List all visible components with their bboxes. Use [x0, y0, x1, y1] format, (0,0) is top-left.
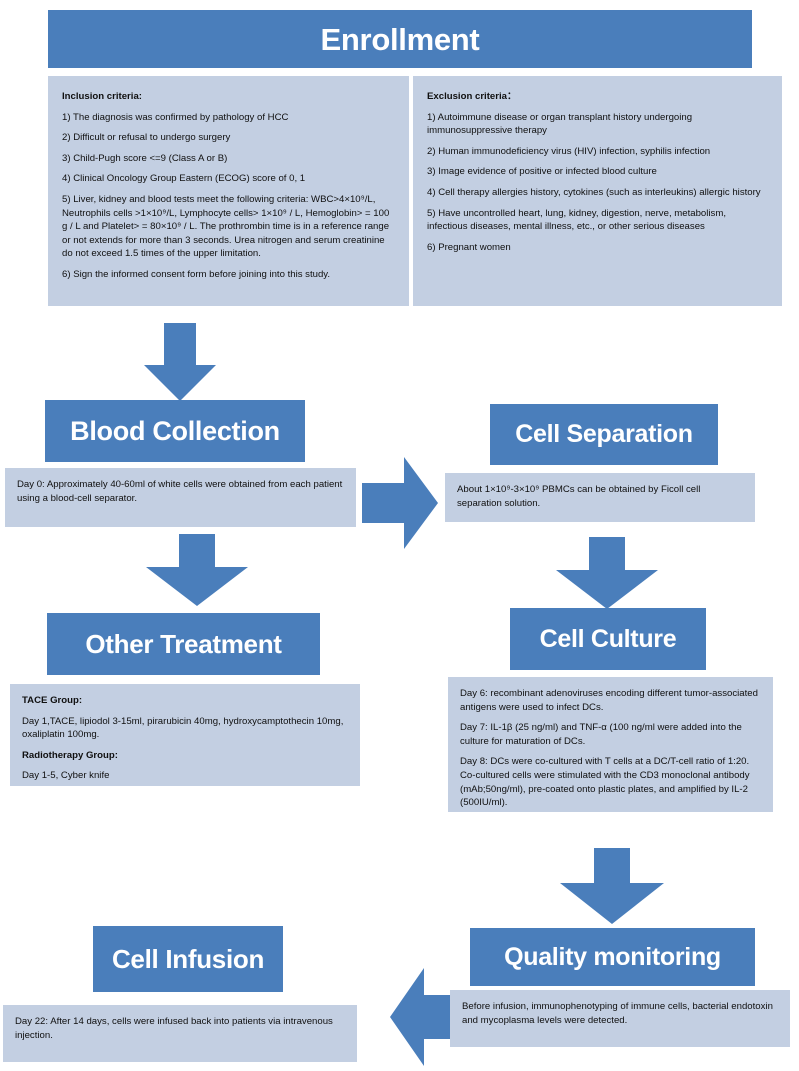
cell-culture-title: Cell Culture	[540, 627, 677, 652]
cell-separation-header-box: Cell Separation	[490, 404, 718, 465]
cell-infusion-panel: Day 22: After 14 days, cells were infuse…	[3, 1005, 357, 1062]
blood-collection-title: Blood Collection	[70, 418, 280, 445]
inclusion-item-3: 3) Child-Pugh score <=9 (Class A or B)	[62, 152, 395, 166]
enrollment-title: Enrollment	[321, 24, 480, 55]
inclusion-item-2: 2) Difficult or refusal to undergo surge…	[62, 131, 395, 145]
cell-infusion-body: Day 22: After 14 days, cells were infuse…	[15, 1015, 345, 1042]
tace-group-body: Day 1,TACE, lipiodol 3-15ml, pirarubicin…	[22, 715, 348, 742]
inclusion-criteria-column: Inclusion criteria: 1) The diagnosis was…	[48, 76, 409, 306]
exclusion-item-6: 6) Pregnant women	[427, 241, 768, 255]
other-treatment-panel: TACE Group: Day 1,TACE, lipiodol 3-15ml,…	[10, 684, 360, 786]
down-arrow-enrollment-to-blood	[144, 323, 216, 401]
tace-group-heading: TACE Group:	[22, 694, 348, 708]
quality-monitoring-body: Before infusion, immunophenotyping of im…	[462, 1000, 778, 1027]
cell-infusion-title: Cell Infusion	[112, 946, 264, 972]
quality-monitoring-panel: Before infusion, immunophenotyping of im…	[450, 990, 790, 1047]
cell-culture-day6: Day 6: recombinant adenoviruses encoding…	[460, 687, 761, 714]
inclusion-heading: Inclusion criteria:	[62, 90, 395, 104]
blood-collection-body: Day 0: Approximately 40-60ml of white ce…	[17, 478, 344, 505]
down-arrow-separation-to-culture	[556, 537, 658, 609]
inclusion-item-1: 1) The diagnosis was confirmed by pathol…	[62, 111, 395, 125]
cell-separation-body: About 1×10⁹-3×10⁹ PBMCs can be obtained …	[457, 483, 743, 510]
cell-separation-panel: About 1×10⁹-3×10⁹ PBMCs can be obtained …	[445, 473, 755, 522]
cell-culture-day8: Day 8: DCs were co-cultured with T cells…	[460, 755, 761, 809]
inclusion-item-6: 6) Sign the informed consent form before…	[62, 268, 395, 282]
right-arrow-blood-to-separation	[362, 457, 438, 549]
blood-collection-header-box: Blood Collection	[45, 400, 305, 462]
enrollment-header-box: Enrollment	[48, 10, 752, 68]
cell-infusion-header-box: Cell Infusion	[93, 926, 283, 992]
flowchart-canvas: Enrollment Inclusion criteria: 1) The di…	[0, 0, 799, 1071]
other-treatment-title: Other Treatment	[85, 631, 281, 657]
quality-monitoring-title: Quality monitoring	[504, 945, 721, 970]
exclusion-item-1: 1) Autoimmune disease or organ transplan…	[427, 111, 768, 138]
radiotherapy-group-heading: Radiotherapy Group:	[22, 749, 348, 763]
quality-monitoring-header-box: Quality monitoring	[470, 928, 755, 986]
exclusion-criteria-column: Exclusion criteria： 1) Autoimmune diseas…	[413, 76, 782, 306]
exclusion-item-5: 5) Have uncontrolled heart, lung, kidney…	[427, 207, 768, 234]
exclusion-item-2: 2) Human immunodeficiency virus (HIV) in…	[427, 145, 768, 159]
down-arrow-blood-to-other-treatment	[146, 534, 248, 606]
cell-culture-day7: Day 7: IL-1β (25 ng/ml) and TNF-α (100 n…	[460, 721, 761, 748]
criteria-panel: Inclusion criteria: 1) The diagnosis was…	[48, 76, 782, 306]
cell-culture-panel: Day 6: recombinant adenoviruses encoding…	[448, 677, 773, 812]
cell-culture-header-box: Cell Culture	[510, 608, 706, 670]
other-treatment-header-box: Other Treatment	[47, 613, 320, 675]
inclusion-item-4: 4) Clinical Oncology Group Eastern (ECOG…	[62, 172, 395, 186]
radiotherapy-group-body: Day 1-5, Cyber knife	[22, 769, 348, 783]
exclusion-heading: Exclusion criteria：	[427, 90, 768, 104]
down-arrow-culture-to-quality	[560, 848, 664, 924]
left-arrow-quality-to-infusion	[390, 968, 452, 1066]
exclusion-item-3: 3) Image evidence of positive or infecte…	[427, 165, 768, 179]
inclusion-item-5: 5) Liver, kidney and blood tests meet th…	[62, 193, 395, 261]
blood-collection-panel: Day 0: Approximately 40-60ml of white ce…	[5, 468, 356, 527]
cell-separation-title: Cell Separation	[515, 422, 693, 447]
exclusion-item-4: 4) Cell therapy allergies history, cytok…	[427, 186, 768, 200]
